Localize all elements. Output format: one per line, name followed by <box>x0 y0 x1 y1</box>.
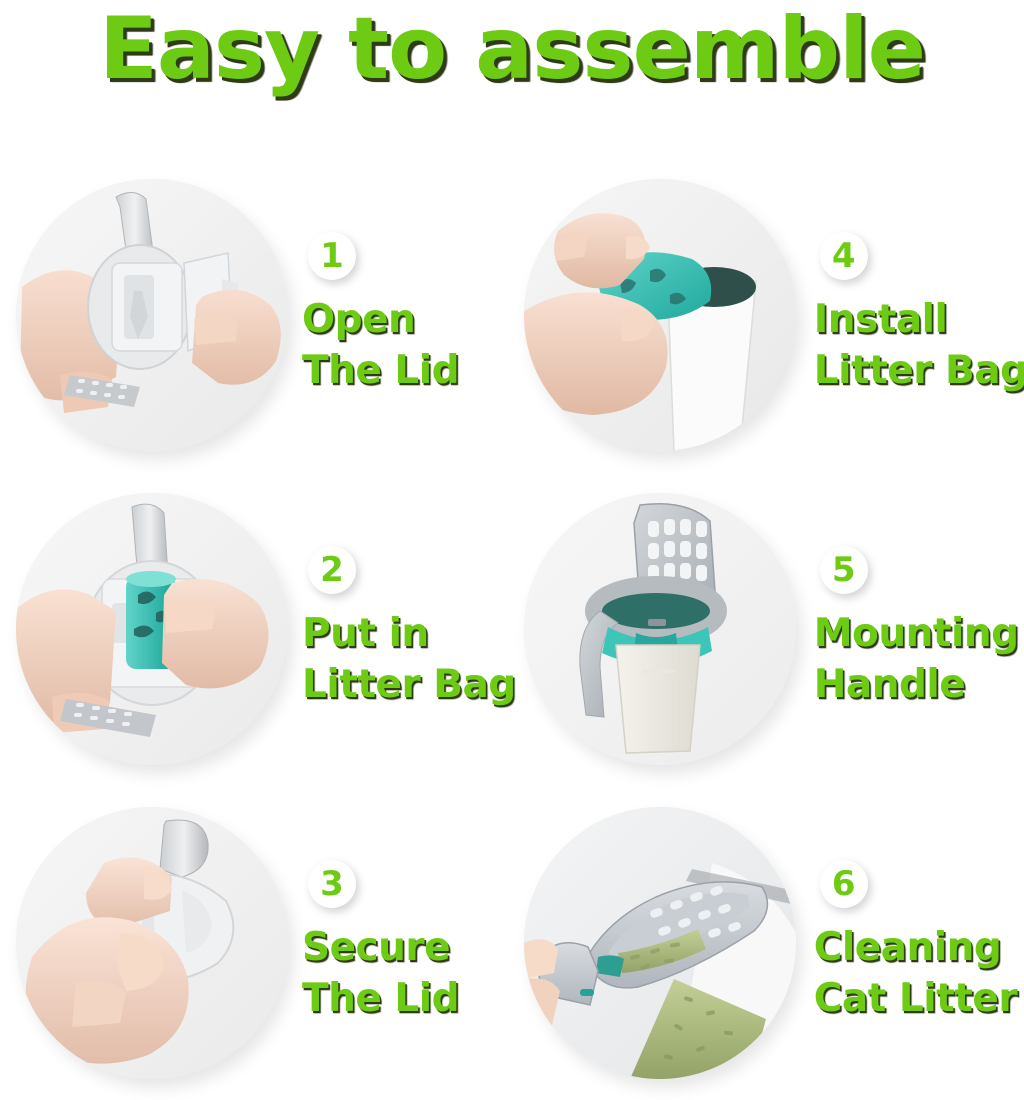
caption-4: 4 Install Litter Bags <box>796 230 1024 401</box>
photo-open-the-lid-wrap <box>16 179 288 451</box>
photo-secure-the-lid <box>16 807 288 1079</box>
photo-put-in-litter-bag <box>16 493 288 765</box>
step-number-1: 1 <box>320 239 344 273</box>
page-title: Easy to assemble <box>0 4 1024 95</box>
step-label-line1-6: Cleaning <box>814 922 1002 973</box>
step-label-line2-6: Cat Litter <box>814 973 1017 1024</box>
step-label-line2-5: Handle <box>814 659 965 710</box>
caption-2: 2 Put in Litter Bag <box>288 544 516 715</box>
photo-cleaning-cat-litter-wrap <box>524 807 796 1079</box>
step-label-line2-3: The Lid <box>302 973 459 1024</box>
caption-6: 6 Cleaning Cat Litter <box>796 858 1024 1029</box>
photo-put-in-litter-bag-wrap <box>16 493 288 765</box>
step-number-2: 2 <box>320 553 344 587</box>
photo-install-litter-bags-wrap <box>524 179 796 451</box>
step-card-6: 6 Cleaning Cat Litter <box>516 786 1024 1100</box>
step-label-line1-2: Put in <box>302 608 429 659</box>
caption-3: 3 Secure The Lid <box>288 858 516 1029</box>
photo-mounting-handle <box>524 493 796 765</box>
step-card-1: 1 Open The Lid <box>0 158 516 472</box>
step-number-badge-6: 6 <box>818 858 870 910</box>
photo-open-the-lid <box>16 179 288 451</box>
step-number-6: 6 <box>832 867 856 901</box>
caption-5: 5 Mounting Handle <box>796 544 1024 715</box>
photo-mounting-handle-wrap <box>524 493 796 765</box>
step-label-line1-4: Install <box>814 294 948 345</box>
step-card-3: 3 Secure The Lid <box>0 786 516 1100</box>
step-number-3: 3 <box>320 867 344 901</box>
step-number-4: 4 <box>832 239 856 273</box>
step-number-badge-5: 5 <box>818 544 870 596</box>
step-label-line2-2: Litter Bag <box>302 659 516 710</box>
step-card-5: 5 Mounting Handle <box>516 472 1024 786</box>
steps-grid: 1 Open The Lid <box>0 158 1024 1100</box>
step-label-line1-5: Mounting <box>814 608 1019 659</box>
step-number-badge-4: 4 <box>818 230 870 282</box>
step-number-5: 5 <box>832 553 856 587</box>
step-number-badge-3: 3 <box>306 858 358 910</box>
caption-1: 1 Open The Lid <box>288 230 516 401</box>
step-label-line2-1: The Lid <box>302 345 459 396</box>
step-label-line1-1: Open <box>302 294 415 345</box>
step-card-2: 2 Put in Litter Bag <box>0 472 516 786</box>
step-number-badge-1: 1 <box>306 230 358 282</box>
photo-install-litter-bags <box>524 179 796 451</box>
step-label-line2-4: Litter Bags <box>814 345 1024 396</box>
step-number-badge-2: 2 <box>306 544 358 596</box>
infographic-page: Easy to assemble <box>0 0 1024 1100</box>
photo-cleaning-cat-litter <box>524 807 796 1079</box>
step-label-line1-3: Secure <box>302 922 450 973</box>
photo-secure-the-lid-wrap <box>16 807 288 1079</box>
step-card-4: 4 Install Litter Bags <box>516 158 1024 472</box>
